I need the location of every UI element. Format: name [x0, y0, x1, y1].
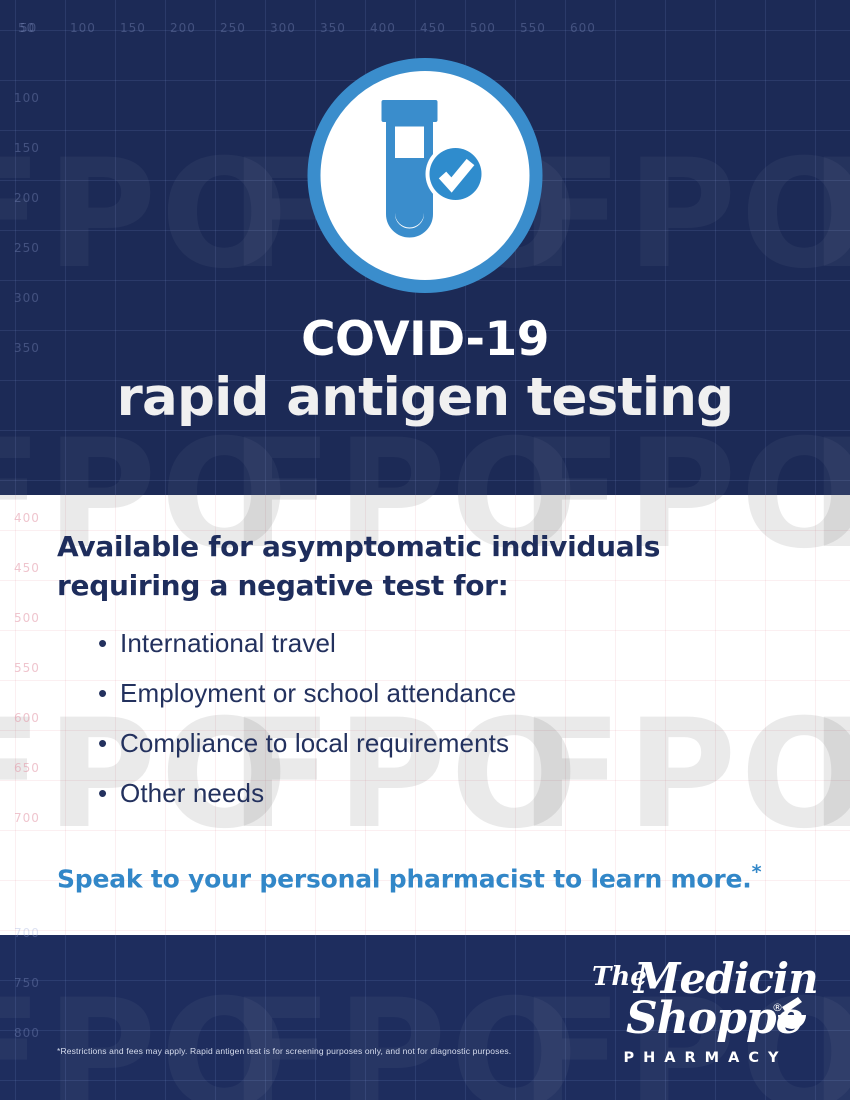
bullet-marker: •	[98, 730, 120, 756]
eligibility-list-item-label: Other needs	[120, 780, 264, 806]
hero-title-block: COVID-19 rapid antigen testing	[0, 316, 850, 432]
eligibility-list-item: •International travel	[98, 630, 516, 656]
poster-canvas: FPOFPOFPOFPOFPOFPOFPOFPOFPOFPOFPOFPOFPOF…	[0, 0, 850, 1100]
eligibility-list-item: •Employment or school attendance	[98, 680, 516, 706]
eligibility-list-item: •Other needs	[98, 780, 516, 806]
bullet-marker: •	[98, 630, 120, 656]
eligibility-list-item-label: Employment or school attendance	[120, 680, 516, 706]
eligibility-list: •International travel•Employment or scho…	[98, 630, 516, 830]
poster-title-primary: COVID-19	[0, 316, 850, 364]
hero-section: COVID-19 rapid antigen testing	[0, 0, 850, 495]
eligibility-list-item: •Compliance to local requirements	[98, 730, 516, 756]
eligibility-heading-line1: Available for asymptomatic individuals	[57, 530, 660, 563]
body-section: Available for asymptomatic individuals r…	[0, 495, 850, 935]
call-to-action-text: Speak to your personal pharmacist to lea…	[57, 864, 752, 893]
footer-section: *Restrictions and fees may apply. Rapid …	[0, 935, 850, 1100]
bullet-marker: •	[98, 780, 120, 806]
bullet-marker: •	[98, 680, 120, 706]
disclaimer-text: *Restrictions and fees may apply. Rapid …	[57, 1046, 511, 1056]
call-to-action: Speak to your personal pharmacist to lea…	[57, 861, 761, 893]
logo-tagline: PHARMACY	[586, 1050, 816, 1066]
eligibility-list-item-label: International travel	[120, 630, 336, 656]
medicine-shoppe-wordmark: The Medicine Shoppe ®	[586, 955, 816, 1047]
footnote-asterisk: *	[752, 861, 762, 883]
eligibility-heading-line2: requiring a negative test for:	[57, 569, 509, 602]
test-tube-check-icon	[308, 58, 543, 293]
eligibility-heading: Available for asymptomatic individuals r…	[57, 528, 757, 605]
medicine-shoppe-logo: The Medicine Shoppe ® PHARMACY	[586, 955, 816, 1066]
poster-title-secondary: rapid antigen testing	[0, 364, 850, 432]
svg-text:®: ®	[772, 1001, 783, 1014]
eligibility-list-item-label: Compliance to local requirements	[120, 730, 509, 756]
